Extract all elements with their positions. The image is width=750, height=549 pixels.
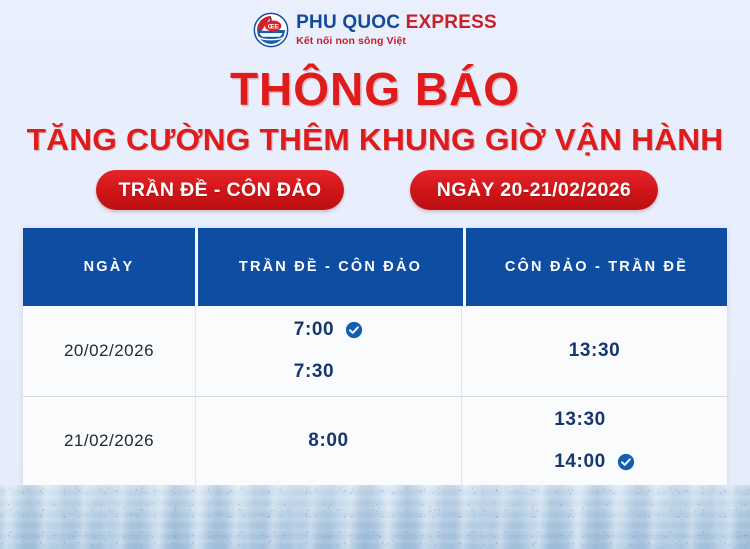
table-header-row: NGÀY TRẦN ĐỀ - CÔN ĐẢO CÔN ĐẢO - TRẦN ĐỀ [23, 228, 727, 306]
departure-time-entry: 8:00 [308, 431, 348, 451]
departure-time: 14:00 [554, 451, 606, 473]
departure-time: 13:30 [554, 409, 606, 431]
table-row: 21/02/2026 8:00 13:30 [23, 397, 727, 485]
date-value: 20/02/2026 [64, 341, 154, 361]
svg-text:ŒE: ŒE [268, 24, 280, 31]
cell-date: 20/02/2026 [23, 306, 196, 396]
cell-outbound-times: 8:00 [196, 397, 462, 485]
departure-time-entry: 13:30 [554, 410, 635, 430]
page-subtitle: TĂNG CƯỜNG THÊM KHUNG GIỜ VẬN HÀNH [0, 124, 750, 155]
table-row: 20/02/2026 7:00 7:30 [23, 306, 727, 397]
column-header-date: NGÀY [23, 228, 195, 306]
column-header-outbound: TRẦN ĐỀ - CÔN ĐẢO [198, 228, 463, 306]
brand-logo: ŒE PHU QUOC EXPRESS Kết nối non sông Việ… [0, 12, 750, 48]
date-value: 21/02/2026 [64, 431, 154, 451]
check-circle-icon [617, 453, 635, 471]
departure-time-entry: 14:00 [554, 452, 635, 472]
brand-name-part2: EXPRESS [406, 12, 497, 33]
departure-time-entry: 7:00 [294, 320, 363, 340]
schedule-table: NGÀY TRẦN ĐỀ - CÔN ĐẢO CÔN ĐẢO - TRẦN ĐỀ… [23, 228, 727, 485]
page-title: THÔNG BÁO [0, 66, 750, 112]
brand-name-part1: PHU QUOC [296, 12, 400, 33]
departure-time: 8:00 [308, 430, 348, 452]
cell-inbound-times: 13:30 [462, 306, 727, 396]
cell-outbound-times: 7:00 7:30 [196, 306, 462, 396]
departure-time: 13:30 [569, 340, 621, 362]
route-badge: TRẦN ĐỀ - CÔN ĐẢO [96, 170, 344, 210]
date-badge: NGÀY 20-21/02/2026 [410, 170, 658, 210]
sea-water-photo [0, 485, 750, 549]
cell-date: 21/02/2026 [23, 397, 196, 485]
cell-inbound-times: 13:30 14:00 [462, 397, 727, 485]
highlight-pills: TRẦN ĐỀ - CÔN ĐẢO NGÀY 20-21/02/2026 [0, 170, 750, 214]
column-header-inbound: CÔN ĐẢO - TRẦN ĐỀ [466, 228, 727, 306]
departure-time-entry: 13:30 [569, 341, 621, 361]
departure-time-entry: 7:30 [294, 362, 363, 382]
phu-quoc-express-emblem-icon: ŒE [253, 12, 289, 48]
announcement-poster: ŒE PHU QUOC EXPRESS Kết nối non sông Việ… [0, 0, 750, 549]
brand-tagline: Kết nối non sông Việt [296, 36, 406, 47]
water-texture [0, 485, 750, 549]
check-circle-icon [345, 321, 363, 339]
departure-time: 7:30 [294, 361, 334, 383]
brand-name: PHU QUOC EXPRESS [296, 13, 497, 32]
departure-time: 7:00 [294, 319, 334, 341]
